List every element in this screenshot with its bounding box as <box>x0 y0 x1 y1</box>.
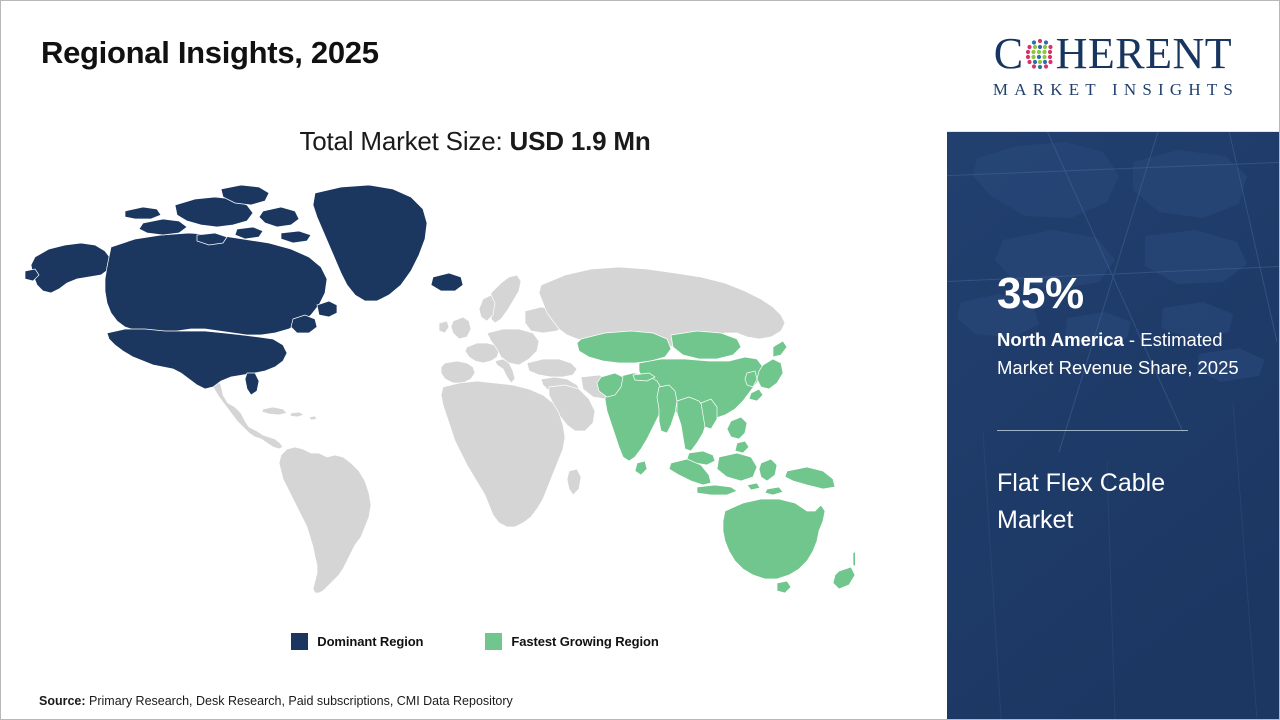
logo-wordmark: C <box>994 32 1232 76</box>
panel-content: 35% North America - Estimated Market Rev… <box>997 132 1279 719</box>
world-map-svg <box>25 181 855 621</box>
total-market-size: Total Market Size: USD 1.9 Mn <box>1 126 949 157</box>
legend-item-dominant: Dominant Region <box>291 633 423 650</box>
legend-label-dominant: Dominant Region <box>317 634 423 649</box>
stat-region-name: North America <box>997 329 1124 350</box>
stat-percentage: 35% <box>997 272 1084 316</box>
highlight-panel: 35% North America - Estimated Market Rev… <box>947 132 1279 719</box>
legend-label-fastest-growing: Fastest Growing Region <box>511 634 658 649</box>
logo-tagline: MARKET INSIGHTS <box>987 80 1239 100</box>
right-column: C <box>947 1 1279 719</box>
legend-swatch-dominant <box>291 633 308 650</box>
panel-divider-rule <box>997 430 1188 431</box>
stat-description: North America - Estimated Market Revenue… <box>997 326 1261 382</box>
map-region-fastest-growing-apac <box>577 331 855 593</box>
map-legend: Dominant Region Fastest Growing Region <box>1 633 949 650</box>
source-note: Source: Primary Research, Desk Research,… <box>39 694 513 708</box>
main-content-area: Regional Insights, 2025 Total Market Siz… <box>1 1 949 719</box>
legend-item-fastest-growing: Fastest Growing Region <box>485 633 658 650</box>
logo-letter-c: C <box>994 32 1024 76</box>
infographic-root: Regional Insights, 2025 Total Market Siz… <box>0 0 1280 720</box>
legend-swatch-fastest-growing <box>485 633 502 650</box>
source-text: Primary Research, Desk Research, Paid su… <box>86 694 513 708</box>
total-market-size-label: Total Market Size: <box>299 126 509 156</box>
market-name: Flat Flex Cable Market <box>997 465 1247 539</box>
logo-text-herent: HERENT <box>1056 32 1233 76</box>
total-market-size-value: USD 1.9 Mn <box>510 126 651 156</box>
page-title: Regional Insights, 2025 <box>41 35 379 71</box>
logo-block: C <box>947 1 1279 132</box>
world-map <box>25 181 855 621</box>
source-label: Source: <box>39 694 86 708</box>
dotted-globe-icon <box>1025 36 1055 70</box>
map-region-dominant-north-america <box>25 185 463 395</box>
